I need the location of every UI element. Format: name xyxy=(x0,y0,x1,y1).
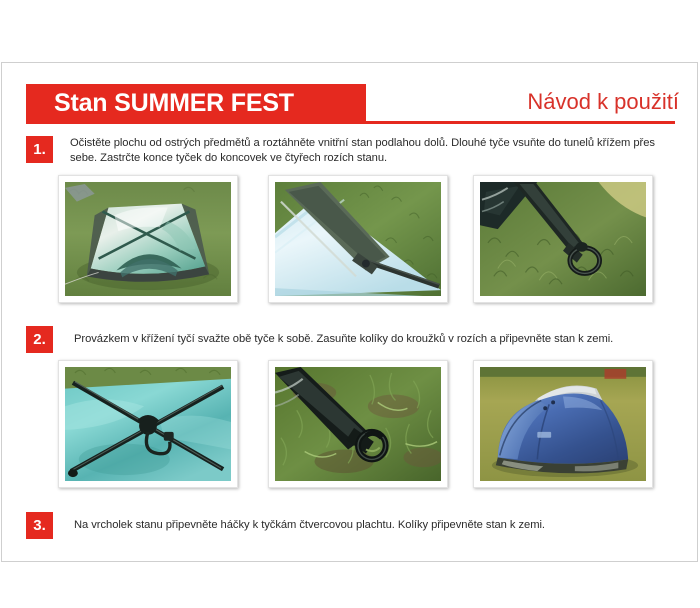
photo-peg-in-ring-image xyxy=(275,367,441,481)
photo-pole-end-in-ring-image xyxy=(480,182,646,296)
step-2-number: 2. xyxy=(26,326,53,353)
step-3-number: 3. xyxy=(26,512,53,539)
document-subtitle: Návod k použití xyxy=(527,89,679,115)
photo-inner-tent-spread: Vnitřní stan roztažený na trávě s překří… xyxy=(58,175,238,303)
photo-finished-tent: Hotový modrý stan postavený na trávě xyxy=(473,360,653,488)
photo-pole-end-in-ring: Konec tyče zastrčený do koncovky v rohu … xyxy=(473,175,653,303)
step-1-number: 1. xyxy=(26,136,53,163)
document-header: Stan SUMMER FEST Návod k použití xyxy=(2,63,699,129)
photo-finished-tent-image xyxy=(480,367,646,481)
photo-poles-tied-crossing: Překřížené tyče svázané provázkem na vrc… xyxy=(58,360,238,488)
step-1-text: Očistěte plochu od ostrých předmětů a ro… xyxy=(70,136,678,165)
step-1-photo-row: Vnitřní stan roztažený na trávě s překří… xyxy=(2,175,699,311)
step-2-text: Provázkem v křížení tyčí svažte obě tyče… xyxy=(74,332,682,347)
photo-peg-in-ring: Kolík zasunutý do kroužku v rohu stanu v… xyxy=(268,360,448,488)
instruction-sheet-page: Stan SUMMER FEST Návod k použití 1. Očis… xyxy=(0,0,700,608)
step-2-photo-row: Překřížené tyče svázané provázkem na vrc… xyxy=(2,360,699,496)
photo-pole-sleeve-image xyxy=(275,182,441,296)
step-3-text: Na vrcholek stanu připevněte háčky k tyč… xyxy=(74,518,682,533)
content-panel: Stan SUMMER FEST Návod k použití 1. Očis… xyxy=(1,62,698,562)
page-title: Stan SUMMER FEST xyxy=(54,89,294,117)
photo-poles-tied-crossing-image xyxy=(65,367,231,481)
header-divider xyxy=(26,121,675,124)
photo-inner-tent-spread-image xyxy=(65,182,231,296)
photo-pole-sleeve: Tyč vsunutá do tunelu na světle modré pl… xyxy=(268,175,448,303)
title-banner: Stan SUMMER FEST xyxy=(26,84,366,121)
